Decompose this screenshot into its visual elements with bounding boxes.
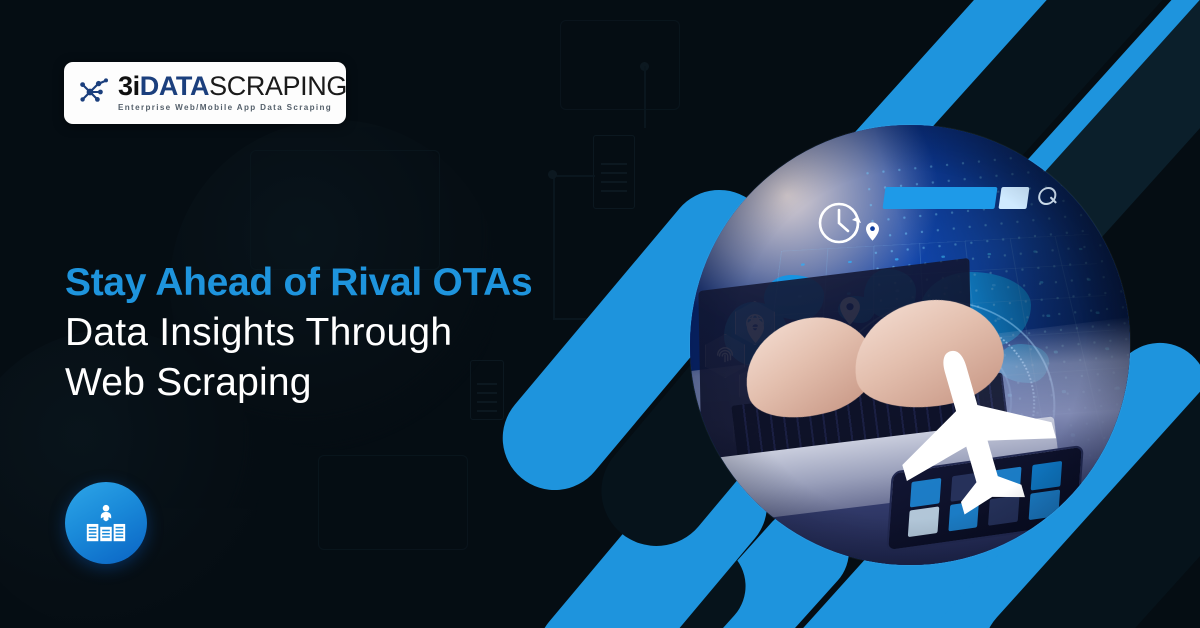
logo-word-scraping: SCRAPING <box>209 71 347 101</box>
data-analyst-documents-icon <box>65 482 147 564</box>
headline-line-2: Data Insights Through <box>65 308 585 358</box>
headline-line-3: Web Scraping <box>65 358 585 408</box>
logo-word-data: DATA <box>140 71 209 101</box>
headline-block: Stay Ahead of Rival OTAs Data Insights T… <box>65 258 585 408</box>
document-outline-icon <box>593 135 635 209</box>
network-nodes-icon <box>76 73 116 113</box>
logo-wordmark: 3iDATASCRAPING <box>118 73 347 100</box>
logo-tagline: Enterprise Web/Mobile App Data Scraping <box>118 104 347 112</box>
logo[interactable]: 3iDATASCRAPING Enterprise Web/Mobile App… <box>64 62 346 124</box>
marketing-banner: 3iDATASCRAPING Enterprise Web/Mobile App… <box>0 0 1200 628</box>
hero-circle-image <box>690 125 1130 565</box>
logo-word-3i: 3i <box>118 71 140 101</box>
circle-vignette <box>690 125 1130 565</box>
headline-accent-line: Stay Ahead of Rival OTAs <box>65 258 585 308</box>
